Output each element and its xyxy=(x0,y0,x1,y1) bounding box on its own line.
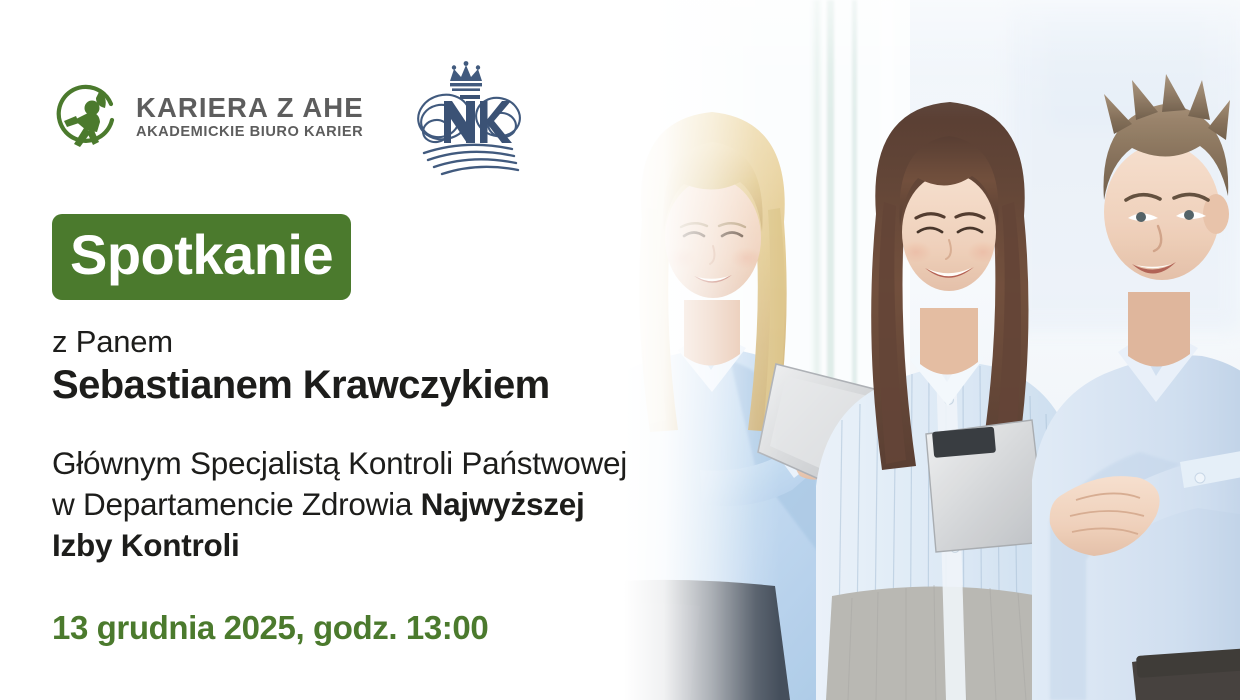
kariera-z-ahe-logo[interactable]: KARIERA Z AHE AKADEMICKIE BIURO KARIER xyxy=(52,82,364,152)
three-colleagues-with-tablet-photo xyxy=(580,0,1240,700)
brand-subtitle: AKADEMICKIE BIURO KARIER xyxy=(136,125,364,140)
spotkanie-badge: Spotkanie xyxy=(52,214,351,300)
poster-canvas: KARIERA Z AHE AKADEMICKIE BIURO KARIER xyxy=(0,0,1240,700)
speaker-role: Głównym Specjalistą Kontroli Państwowej … xyxy=(52,443,652,566)
speaker-name: Sebastianem Krawczykiem xyxy=(52,363,652,408)
lead-line: z Panem xyxy=(52,324,652,361)
wave-lines xyxy=(424,145,518,174)
brand-title: KARIERA Z AHE xyxy=(136,94,364,122)
crown-icon xyxy=(450,61,482,91)
kariera-z-ahe-running-figure-logo xyxy=(52,82,122,152)
poster-content: Spotkanie z Panem Sebastianem Krawczykie… xyxy=(52,214,652,646)
brand-text-block: KARIERA Z AHE AKADEMICKIE BIURO KARIER xyxy=(136,94,364,139)
hero-photo xyxy=(580,0,1240,700)
nik-monogram-emblem[interactable] xyxy=(406,55,526,179)
header-logos: KARIERA Z AHE AKADEMICKIE BIURO KARIER xyxy=(52,55,526,179)
event-datetime: 13 grudnia 2025, godz. 13:00 xyxy=(52,610,652,646)
